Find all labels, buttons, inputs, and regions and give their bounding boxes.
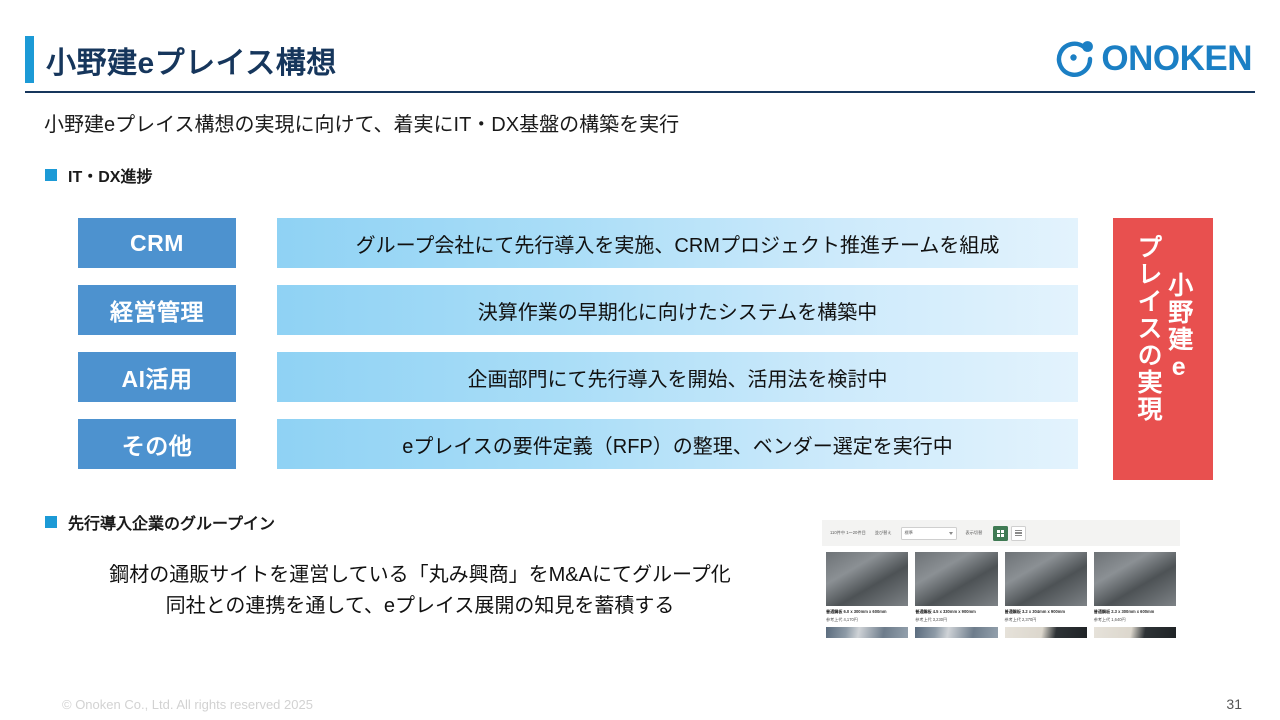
- row-text-crm: グループ会社にて先行導入を実施、CRMプロジェクト推進チームを組成: [277, 218, 1078, 268]
- section-label-it-dx: IT・DX進捗: [68, 163, 152, 187]
- progress-row-list: CRM グループ会社にて先行導入を実施、CRMプロジェクト推進チームを組成 経営…: [78, 218, 1078, 486]
- slide-header: 小野建eプレイス構想 ONOKEN: [0, 0, 1280, 96]
- section-heading-group-in: 先行導入企業のグループイン: [45, 510, 275, 534]
- page-title: 小野建eプレイス構想: [46, 38, 337, 82]
- product-price: 参考上代 1,640円: [1094, 617, 1176, 623]
- row-label-other: その他: [78, 419, 236, 469]
- ec-view-label: 表示切替: [966, 530, 983, 536]
- onoken-logo-mark: [1054, 38, 1096, 78]
- footer-copyright: © Onoken Co., Ltd. All rights reserved 2…: [62, 697, 313, 712]
- chevron-down-icon: [949, 532, 953, 535]
- product-image: [826, 552, 908, 606]
- bullet-square-icon: [45, 516, 57, 528]
- product-price: 参考上代 3,230円: [915, 617, 997, 623]
- product-image-secondary: [1094, 627, 1176, 638]
- product-image-secondary: [1005, 627, 1087, 638]
- product-image: [1005, 552, 1087, 606]
- list-icon: [1015, 530, 1022, 536]
- product-price: 参考上代 4,170円: [826, 617, 908, 623]
- section-label-group-in: 先行導入企業のグループイン: [68, 510, 275, 534]
- table-row: 経営管理 決算作業の早期化に向けたシステムを構築中: [78, 285, 1078, 335]
- eplace-vision-banner: 小野建e プレイスの実現: [1113, 218, 1213, 480]
- banner-text-right: 小野建e: [1164, 234, 1193, 383]
- ec-toolbar: 110件中 1～20件目 並び替え 標準 表示切替: [822, 520, 1180, 546]
- onoken-logo: ONOKEN: [1054, 38, 1252, 78]
- row-text-other: eプレイスの要件定義（RFP）の整理、ベンダー選定を実行中: [277, 419, 1078, 469]
- row-text-ai: 企画部門にて先行導入を開始、活用法を検討中: [277, 352, 1078, 402]
- product-image: [1094, 552, 1176, 606]
- ec-view-toggle: [993, 526, 1026, 541]
- list-item[interactable]: 普通鋼板 6.0 x 300mm x 600mm 参考上代 4,170円: [826, 552, 908, 638]
- group-in-line-1: 鋼材の通販サイトを運営している「丸み興商」をM&Aにてグループ化: [90, 560, 750, 591]
- list-item[interactable]: 普通鋼板 3.2 x 304mm x 900mm 参考上代 2,370円: [1005, 552, 1087, 638]
- product-price: 参考上代 2,370円: [1005, 617, 1087, 623]
- product-image: [915, 552, 997, 606]
- table-row: CRM グループ会社にて先行導入を実施、CRMプロジェクト推進チームを組成: [78, 218, 1078, 268]
- product-title: 普通鋼板 4.5 x 330mm x 900mm: [915, 609, 997, 615]
- list-item[interactable]: 普通鋼板 4.5 x 330mm x 900mm 参考上代 3,230円: [915, 552, 997, 638]
- table-row: その他 eプレイスの要件定義（RFP）の整理、ベンダー選定を実行中: [78, 419, 1078, 469]
- title-accent-bar: [25, 36, 34, 83]
- ec-sort-label: 並び替え: [875, 530, 892, 536]
- product-title: 普通鋼板 6.0 x 300mm x 600mm: [826, 609, 908, 615]
- list-item[interactable]: 普通鋼板 2.3 x 300mm x 600mm 参考上代 1,640円: [1094, 552, 1176, 638]
- header-divider: [25, 91, 1255, 93]
- ec-sort-select[interactable]: 標準: [901, 527, 957, 540]
- row-label-crm: CRM: [78, 218, 236, 268]
- row-text-keiei-kanri: 決算作業の早期化に向けたシステムを構築中: [277, 285, 1078, 335]
- product-image-secondary: [915, 627, 997, 638]
- ec-product-grid: 普通鋼板 6.0 x 300mm x 600mm 参考上代 4,170円 普通鋼…: [822, 546, 1180, 638]
- product-image-secondary: [826, 627, 908, 638]
- grid-icon: [997, 530, 1004, 537]
- list-view-button[interactable]: [1011, 526, 1026, 541]
- group-in-line-2: 同社との連携を通して、eプレイス展開の知見を蓄積する: [90, 591, 750, 622]
- table-row: AI活用 企画部門にて先行導入を開始、活用法を検討中: [78, 352, 1078, 402]
- ec-sort-value: 標準: [905, 530, 913, 536]
- page-number: 31: [1226, 696, 1242, 712]
- slide: 小野建eプレイス構想 ONOKEN 小野建eプレイス構想の実現に向けて、着実にI…: [0, 0, 1280, 720]
- grid-view-button[interactable]: [993, 526, 1008, 541]
- group-in-description: 鋼材の通販サイトを運営している「丸み興商」をM&Aにてグループ化 同社との連携を…: [90, 560, 750, 622]
- banner-text-left: プレイスの実現: [1133, 234, 1162, 423]
- product-title: 普通鋼板 2.3 x 300mm x 600mm: [1094, 609, 1176, 615]
- ec-result-count: 110件中 1～20件目: [830, 530, 866, 536]
- bullet-square-icon: [45, 169, 57, 181]
- section-heading-it-dx: IT・DX進捗: [45, 163, 152, 187]
- onoken-logo-text: ONOKEN: [1101, 41, 1252, 76]
- row-label-keiei-kanri: 経営管理: [78, 285, 236, 335]
- ec-site-screenshot: 110件中 1～20件目 並び替え 標準 表示切替: [822, 520, 1180, 680]
- row-label-ai: AI活用: [78, 352, 236, 402]
- product-title: 普通鋼板 3.2 x 304mm x 900mm: [1005, 609, 1087, 615]
- subtitle: 小野建eプレイス構想の実現に向けて、着実にIT・DX基盤の構築を実行: [44, 108, 679, 137]
